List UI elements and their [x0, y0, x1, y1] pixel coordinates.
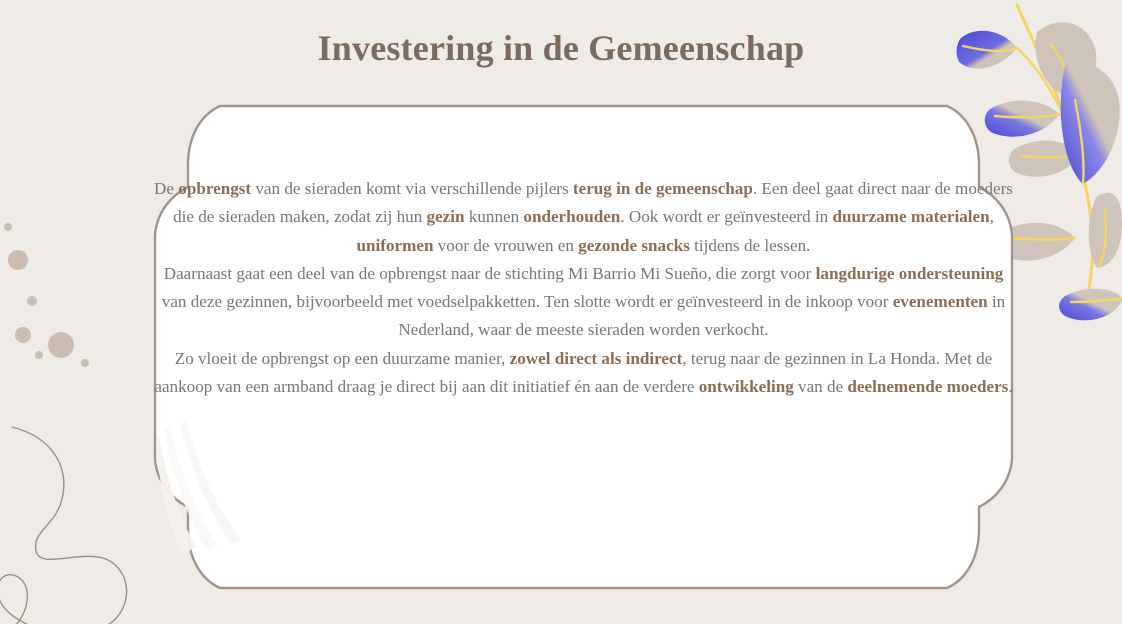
slide-canvas: Investering in de Gemeenschap De opbreng… [0, 0, 1122, 624]
content-frame: De opbrengst van de sieraden komt via ve… [152, 103, 1015, 591]
body-text-block: De opbrengst van de sieraden komt via ve… [152, 175, 1015, 401]
dot [35, 351, 43, 359]
leaf-icon [1009, 141, 1081, 177]
dot [27, 296, 37, 306]
paragraph-3: Zo vloeit de opbrengst op een duurzame m… [154, 345, 1013, 402]
page-title: Investering in de Gemeenschap [0, 27, 1122, 69]
leaf-icon [1061, 63, 1120, 184]
dot [4, 223, 12, 231]
dot-cluster-decoration [0, 205, 130, 425]
leaf-icon [1059, 289, 1122, 321]
paragraph-1: De opbrengst van de sieraden komt via ve… [154, 175, 1013, 260]
dot [8, 250, 28, 270]
leaf-icon [1089, 193, 1122, 268]
paragraph-2: Daarnaast gaat een deel van de opbrengst… [154, 260, 1013, 345]
dot [15, 327, 31, 343]
dot [81, 359, 89, 367]
dot [48, 332, 74, 358]
